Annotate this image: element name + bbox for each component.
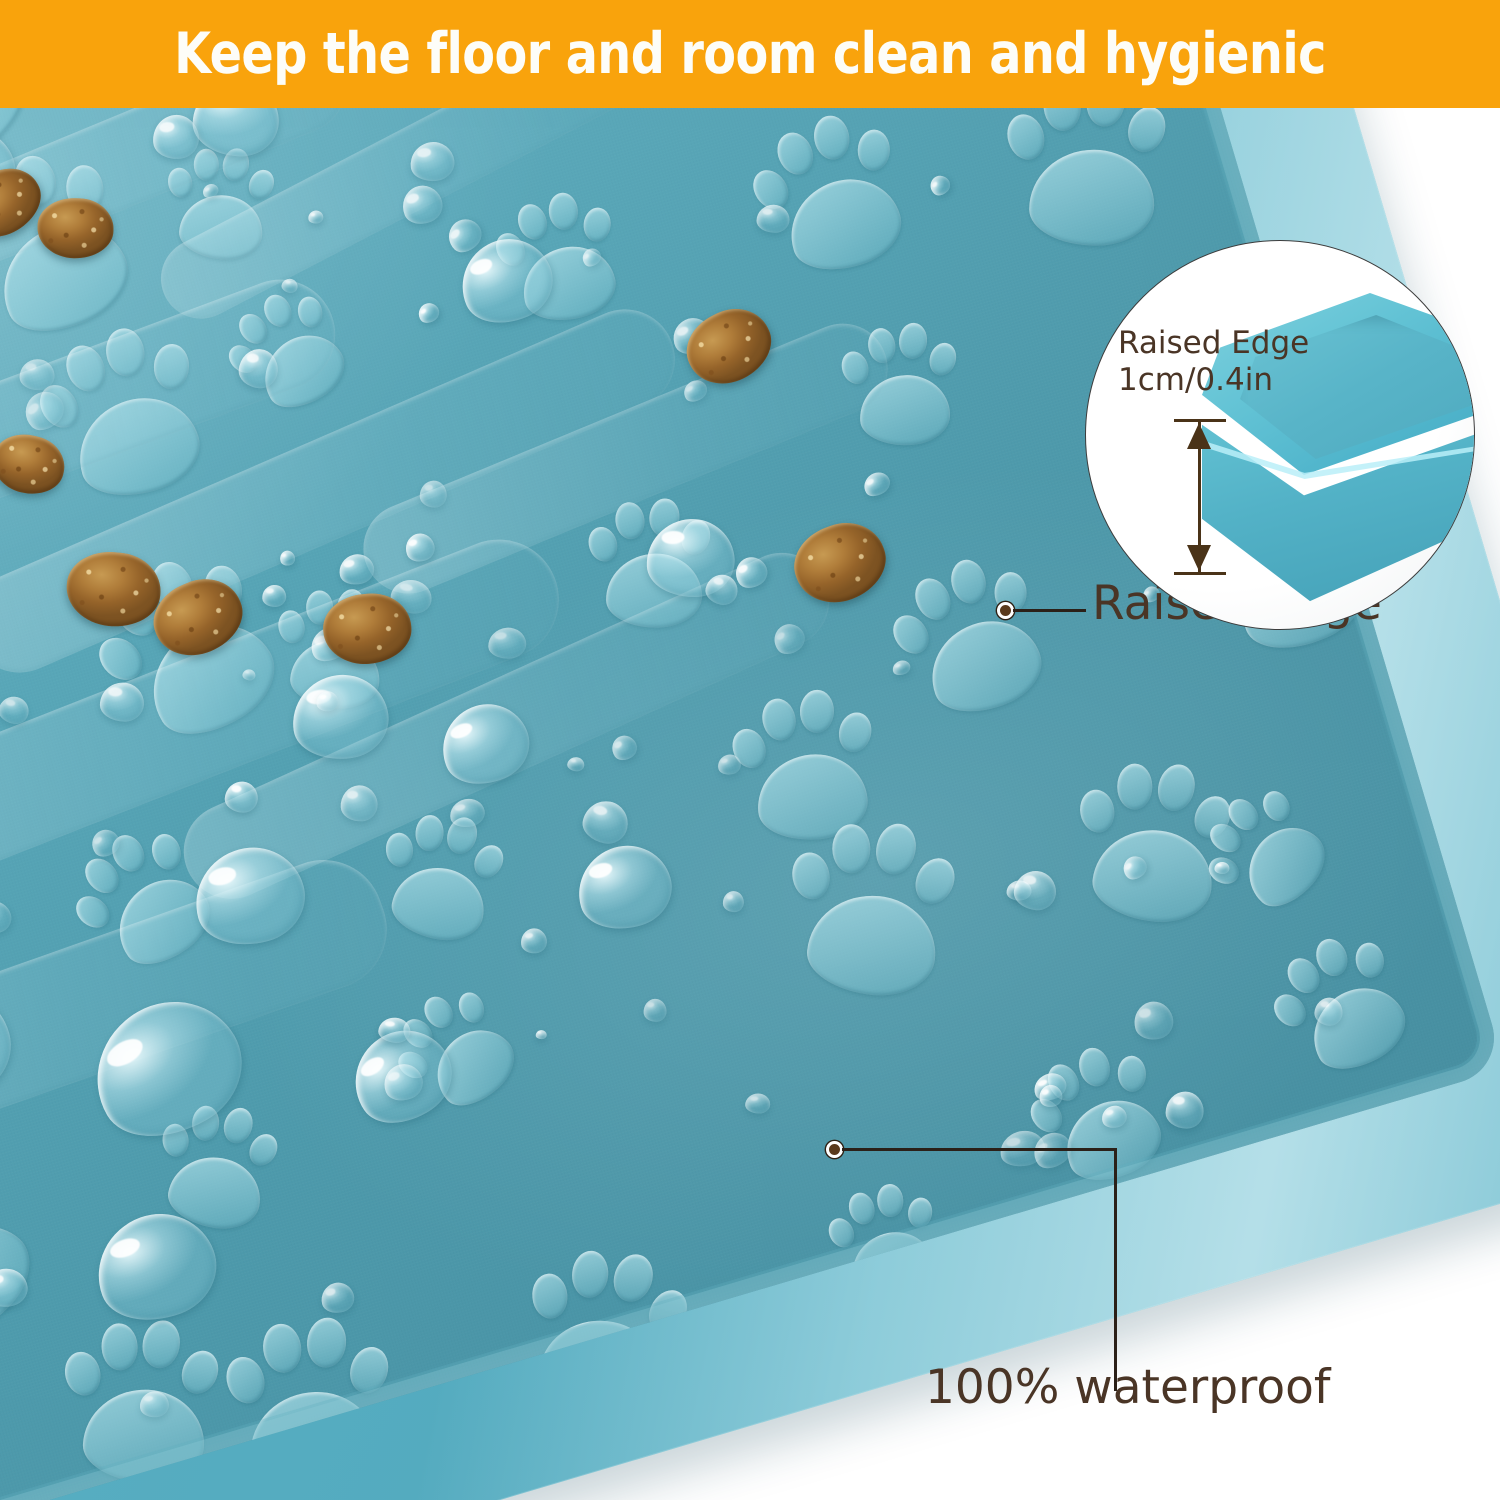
paw-toe-pad [547, 191, 579, 231]
paw-toe-pad [1084, 108, 1128, 130]
paw-print [775, 807, 978, 1021]
paw-main-pad [386, 860, 490, 947]
paw-toe-pad [1117, 1056, 1147, 1093]
callout-dot-waterproof [826, 1141, 843, 1158]
paw-main-pad [804, 890, 941, 1001]
paw-toe-pad [384, 831, 414, 867]
water-droplet [926, 172, 954, 200]
callout-dot-raised-edge [997, 602, 1014, 619]
paw-toe-pad [147, 831, 184, 873]
paw-toe-pad [759, 695, 800, 743]
water-droplet [607, 731, 641, 765]
water-droplet [745, 1093, 770, 1113]
arrow-head-down-icon [1187, 545, 1211, 571]
inset-label: Raised Edge 1cm/0.4in [1118, 325, 1309, 398]
water-droplet [536, 1030, 547, 1039]
paw-toe-pad [926, 340, 960, 379]
arrow-head-up-icon [1187, 423, 1211, 449]
paw-toe-pad [1257, 786, 1294, 825]
paw-toe-pad [100, 1322, 139, 1371]
paw-toe-pad [810, 114, 852, 164]
paw-toe-pad [875, 1183, 903, 1217]
paw-toe-pad [789, 850, 834, 903]
water-droplet [579, 797, 631, 847]
paw-toe-pad [898, 322, 929, 360]
paw-toe-pad [221, 1352, 270, 1407]
paw-toe-pad [584, 524, 621, 566]
paw-toe-pad [570, 1249, 610, 1299]
water-droplet [99, 682, 144, 722]
water-droplet [415, 299, 443, 327]
paw-toe-pad [1123, 108, 1172, 157]
dimension-arrow [1174, 419, 1226, 575]
paw-toe-pad [454, 988, 488, 1025]
paw-toe-pad [832, 825, 871, 875]
dimension-cap-bottom [1174, 572, 1226, 575]
paw-toe-pad [947, 557, 990, 607]
paw-toe-pad [1077, 787, 1118, 835]
paw-toe-pad [845, 1189, 878, 1227]
paw-toe-pad [414, 814, 444, 852]
header-banner: Keep the floor and room clean and hygien… [0, 0, 1500, 108]
paw-toe-pad [468, 840, 508, 883]
water-droplet [567, 756, 585, 772]
paw-toe-pad [857, 130, 891, 172]
paw-toe-pad [1153, 761, 1199, 815]
paw-main-pad [1029, 150, 1154, 247]
paw-toe-pad [608, 1250, 659, 1307]
paw-toe-pad [872, 820, 921, 878]
paw-toe-pad [800, 689, 835, 733]
paw-toe-pad [140, 1318, 185, 1371]
paw-toe-pad [1267, 988, 1312, 1033]
paw-toe-pad [1353, 941, 1386, 981]
paw-main-pad [778, 167, 911, 283]
paw-toe-pad [60, 1348, 104, 1399]
banner-headline: Keep the floor and room clean and hygien… [53, 0, 1448, 108]
water-droplet [420, 480, 447, 507]
paw-toe-pad [771, 128, 819, 181]
product-photo: Raised Edge 100% waterproof Raised Edge … [0, 108, 1500, 1500]
paw-toe-pad [582, 206, 612, 243]
water-droplet [1214, 862, 1229, 874]
paw-print [1003, 108, 1184, 264]
product-infographic: Keep the floor and room clean and hygien… [0, 0, 1500, 1500]
paw-toe-pad [513, 200, 551, 243]
paw-main-pad [918, 608, 1051, 726]
paw-toe-pad [176, 1345, 225, 1399]
paw-toe-pad [1041, 108, 1083, 133]
callout-label-waterproof: 100% waterproof [925, 1360, 1330, 1415]
paw-toe-pad [219, 1104, 257, 1147]
paw-toe-pad [305, 1316, 349, 1370]
callout-leader-waterproof-h [842, 1148, 1117, 1151]
water-droplet [643, 998, 668, 1023]
paw-print [872, 533, 1080, 748]
callout-leader-waterproof-v [1114, 1148, 1117, 1391]
raised-edge-inset: Raised Edge 1cm/0.4in [1085, 240, 1475, 630]
water-droplet [1012, 869, 1058, 912]
water-droplet [519, 927, 548, 956]
paw-toe-pad [344, 1342, 393, 1397]
water-droplet [19, 359, 55, 391]
water-droplet [756, 205, 789, 233]
paw-toe-pad [909, 852, 962, 910]
paw-toe-pad [905, 1196, 933, 1229]
paw-toe-pad [260, 1322, 304, 1375]
water-droplet [859, 468, 894, 501]
water-droplet [1165, 1091, 1203, 1128]
water-droplet [568, 835, 681, 940]
paw-toe-pad [244, 1129, 283, 1171]
paw-toe-pad [530, 1273, 569, 1321]
paw-toe-pad [1075, 1044, 1114, 1089]
paw-toe-pad [1002, 111, 1049, 165]
paw-toe-pad [69, 890, 114, 934]
paw-toe-pad [835, 709, 875, 756]
callout-leader-raised-edge [1013, 609, 1086, 612]
water-droplet [723, 891, 745, 913]
paw-toe-pad [1117, 764, 1153, 810]
kibble-piece [37, 197, 115, 259]
